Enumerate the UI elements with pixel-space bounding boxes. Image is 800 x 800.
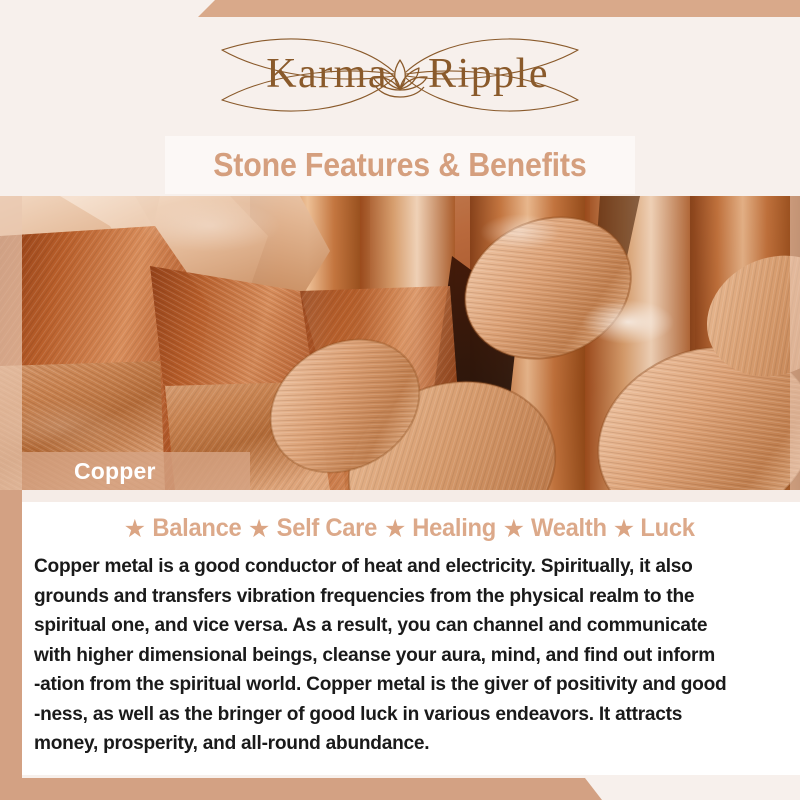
description-line: with higher dimensional beings, cleanse …: [34, 641, 771, 671]
benefit-label-balance: Balance: [150, 514, 245, 543]
brand-logo-svg: Karma Ripple: [190, 32, 610, 118]
copper-rods-illustration: [0, 196, 800, 490]
stone-name-label: Copper: [22, 458, 156, 485]
top-accent-band: [0, 0, 800, 17]
page-title: Stone Features & Benefits: [213, 146, 586, 184]
star-icon: ★: [613, 517, 635, 542]
photo-left-fade: [0, 196, 22, 490]
photo-bottom-strip: [22, 490, 800, 502]
benefit-label-luck: Luck: [638, 514, 698, 543]
brand-logo: Karma Ripple: [0, 30, 800, 120]
star-icon: ★: [384, 517, 406, 542]
photo-right-fade: [790, 196, 800, 490]
section-title-banner: Stone Features & Benefits: [165, 136, 635, 194]
info-panel: ★Balance★Self Care★Healing★Wealth★Luck C…: [22, 502, 800, 775]
logo-word-ripple: Ripple: [428, 51, 549, 97]
benefit-label-healing: Healing: [410, 514, 499, 543]
description-line: grounds and transfers vibration frequenc…: [34, 582, 771, 612]
hero-image: [0, 196, 800, 490]
description-line: spiritual one, and vice versa. As a resu…: [34, 611, 771, 641]
bottom-accent-band: [0, 778, 800, 800]
benefits-list: ★Balance★Self Care★Healing★Wealth★Luck: [22, 510, 800, 546]
description-line: money, prosperity, and all-round abundan…: [34, 729, 771, 759]
logo-word-karma: Karma: [266, 51, 388, 97]
description-line: -ness, as well as the bringer of good lu…: [34, 700, 771, 730]
star-icon: ★: [124, 517, 146, 542]
star-icon: ★: [503, 517, 525, 542]
product-info-card: Karma Ripple Stone Features & Benefits: [0, 0, 800, 800]
description-line: -ation from the spiritual world. Copper …: [34, 670, 771, 700]
benefit-label-self-care: Self Care: [274, 514, 380, 543]
star-icon: ★: [248, 517, 270, 542]
description-line: Copper metal is a good conductor of heat…: [34, 552, 771, 582]
stone-name-badge: Copper: [22, 452, 250, 490]
benefit-label-wealth: Wealth: [528, 514, 609, 543]
stone-description: Copper metal is a good conductor of heat…: [34, 552, 771, 759]
